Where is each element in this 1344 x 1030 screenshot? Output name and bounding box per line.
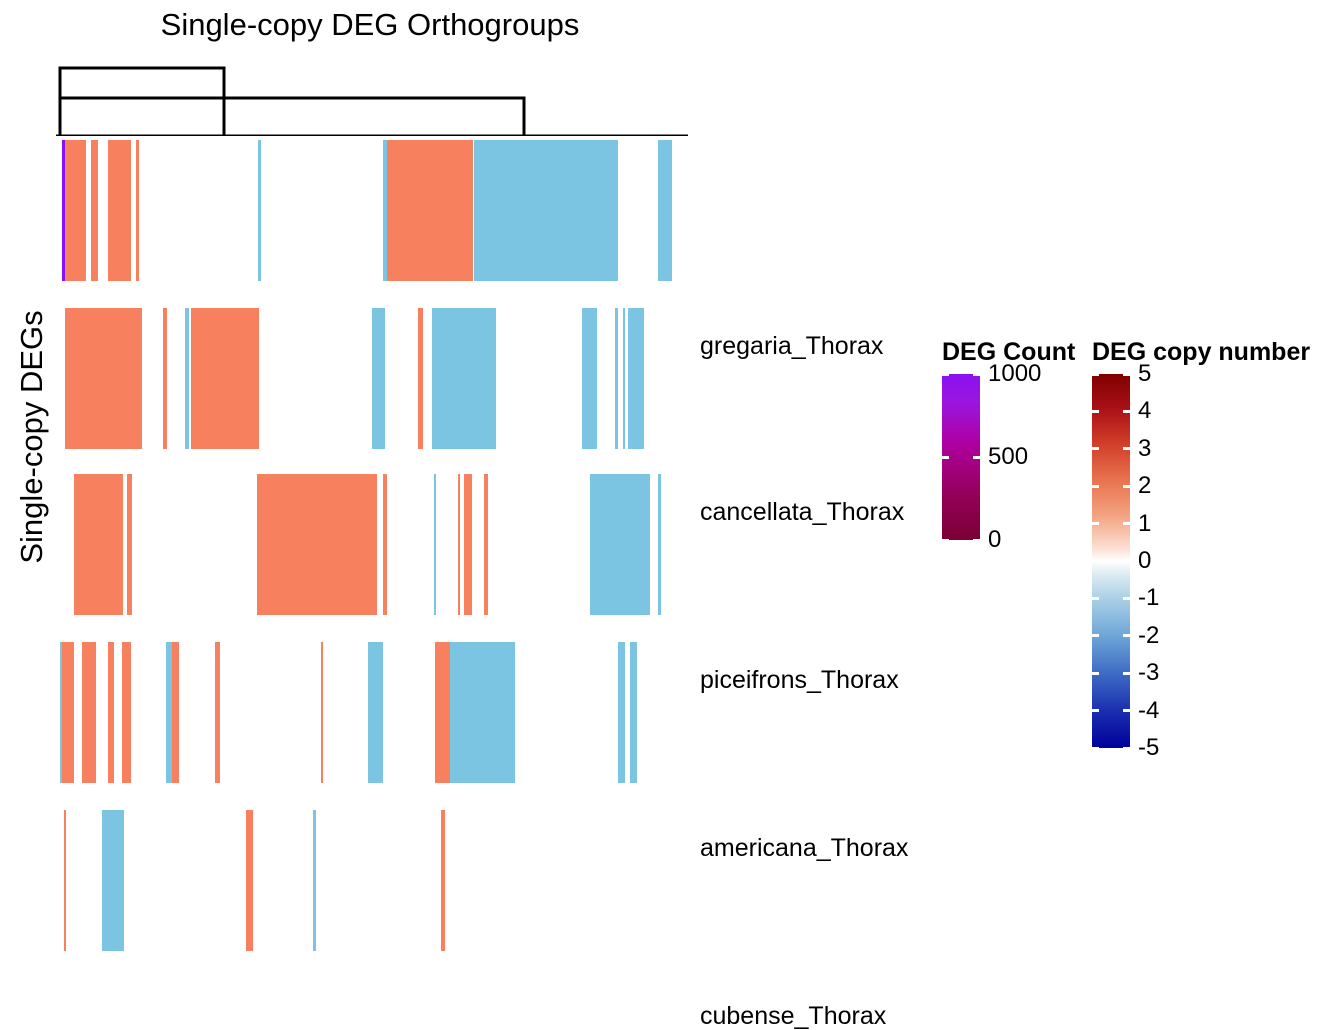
heatmap-cell — [630, 642, 638, 783]
figure-root: Single-copy DEG Orthogroups Single-copy … — [0, 0, 1344, 960]
legend-tick-mark — [1092, 709, 1099, 712]
heatmap-cell — [628, 308, 630, 449]
heatmap-cell — [464, 474, 473, 615]
heatmap-cell — [82, 642, 96, 783]
legend-tick-label: 1000 — [988, 361, 1041, 387]
heatmap-cell — [246, 810, 254, 951]
legend-tick-label: 500 — [988, 444, 1028, 470]
legend-deg-copy-number-title: DEG copy number — [1092, 338, 1310, 366]
heatmap-cell — [108, 140, 131, 281]
dendrogram-node-1 — [60, 68, 224, 136]
heatmap-cell — [658, 140, 673, 281]
heatmap-cell — [618, 642, 624, 783]
legend-tick-mark — [1092, 447, 1099, 450]
heatmap-cell — [435, 642, 450, 783]
heatmap-cell — [91, 140, 98, 281]
heatmap-cell — [487, 140, 618, 281]
heatmap-cell — [443, 308, 445, 449]
dendrogram-svg — [56, 58, 688, 136]
heatmap-row — [56, 642, 688, 783]
legend-tick-label: 4 — [1138, 398, 1151, 424]
heatmap-cell — [215, 642, 219, 783]
heatmap-cell — [122, 642, 130, 783]
heatmap-cell — [108, 642, 114, 783]
legend-tick-label: -5 — [1138, 735, 1159, 761]
heatmap-cell — [441, 810, 445, 951]
legend-tick-mark — [1123, 747, 1130, 750]
legend-tick-mark — [1123, 447, 1130, 450]
heatmap-cell — [372, 308, 385, 449]
heatmap-cell — [590, 474, 650, 615]
legend-tick-mark — [1092, 560, 1099, 563]
legend-tick-mark — [973, 539, 980, 542]
heatmap-cell — [623, 308, 626, 449]
heatmap-cell — [615, 308, 619, 449]
legend-tick-label: 2 — [1138, 473, 1151, 499]
heatmap-cell — [127, 474, 132, 615]
heatmap-cell — [321, 642, 324, 783]
legend-tick-mark — [1123, 634, 1130, 637]
heatmap-row-label: cancellata_Thorax — [700, 498, 904, 526]
heatmap-cell — [64, 810, 66, 951]
legend-tick-label: 3 — [1138, 436, 1151, 462]
heatmap-cell — [484, 474, 487, 615]
legend-tick-mark — [1092, 410, 1099, 413]
legend-tick-label: -4 — [1138, 698, 1159, 724]
legend-tick-mark — [942, 539, 949, 542]
legend-tick-mark — [1123, 709, 1130, 712]
legend-tick-mark — [1092, 373, 1099, 376]
legend-deg-copy-number: DEG copy number 543210-1-2-3-4-5 — [1092, 338, 1342, 768]
legend-tick-mark — [973, 373, 980, 376]
heatmap-cell — [172, 642, 180, 783]
legend-tick-mark — [973, 456, 980, 459]
legend-tick-mark — [1123, 672, 1130, 675]
legend-tick-label: -3 — [1138, 660, 1159, 686]
heatmap-row — [56, 810, 688, 951]
legend-tick-mark — [1092, 634, 1099, 637]
heatmap-cell — [258, 140, 262, 281]
heatmap-cell — [257, 474, 377, 615]
heatmap-cell — [102, 810, 124, 951]
legend-tick-mark — [1123, 522, 1130, 525]
heatmap-cell — [433, 308, 436, 449]
legend-tick-label: 0 — [988, 527, 1001, 553]
heatmap-cell — [313, 810, 317, 951]
heatmap-cell — [458, 474, 461, 615]
legend-tick-mark — [1123, 373, 1130, 376]
heatmap-cell — [185, 308, 189, 449]
legend-tick-mark — [1123, 485, 1130, 488]
heatmap-cell — [474, 140, 487, 281]
legend-tick-mark — [1092, 485, 1099, 488]
legend-tick-label: -2 — [1138, 623, 1159, 649]
heatmap-cell — [418, 308, 423, 449]
legend-tick-mark — [1092, 672, 1099, 675]
heatmap-cell — [191, 308, 259, 449]
heatmap-cell — [74, 474, 123, 615]
legend-tick-mark — [942, 456, 949, 459]
heatmap-row-label: gregaria_Thorax — [700, 332, 883, 360]
heatmap-cell — [445, 642, 515, 783]
legend-tick-label: -1 — [1138, 585, 1159, 611]
page-title: Single-copy DEG Orthogroups — [0, 6, 740, 44]
heatmap-cell — [368, 642, 383, 783]
heatmap-cell — [432, 308, 496, 449]
legend-tick-label: 5 — [1138, 361, 1151, 387]
heatmap: gregaria_Thoraxcancellata_Thoraxpiceifro… — [56, 136, 688, 956]
heatmap-row — [56, 474, 688, 615]
legend-tick-label: 1 — [1138, 511, 1151, 537]
legend-tick-mark — [1092, 522, 1099, 525]
legend-tick-mark — [1092, 597, 1099, 600]
legend-deg-count: DEG Count 10005000 — [942, 338, 1092, 548]
legend-tick-mark — [1123, 597, 1130, 600]
heatmap-cell — [65, 140, 86, 281]
heatmap-row — [56, 140, 688, 281]
legend-tick-mark — [1123, 560, 1130, 563]
dendrogram-node-2 — [60, 98, 524, 136]
legend-tick-mark — [942, 373, 949, 376]
heatmap-row — [56, 308, 688, 449]
heatmap-cell — [62, 642, 74, 783]
heatmap-cell — [387, 140, 474, 281]
heatmap-row-label: cubense_Thorax — [700, 1002, 886, 1030]
heatmap-cell — [65, 308, 142, 449]
heatmap-row-label: piceifrons_Thorax — [700, 666, 899, 694]
heatmap-cell — [136, 140, 140, 281]
heatmap-cell — [635, 308, 644, 449]
y-axis-label: Single-copy DEGs — [15, 257, 49, 617]
column-dendrogram — [56, 58, 688, 136]
heatmap-cell — [383, 474, 387, 615]
legend-tick-mark — [1123, 410, 1130, 413]
heatmap-row-label: americana_Thorax — [700, 834, 908, 862]
heatmap-cell — [658, 474, 662, 615]
heatmap-cell — [434, 474, 437, 615]
legend-tick-label: 0 — [1138, 548, 1151, 574]
heatmap-cell — [582, 308, 597, 449]
legend-tick-mark — [1092, 747, 1099, 750]
heatmap-cell — [163, 308, 167, 449]
